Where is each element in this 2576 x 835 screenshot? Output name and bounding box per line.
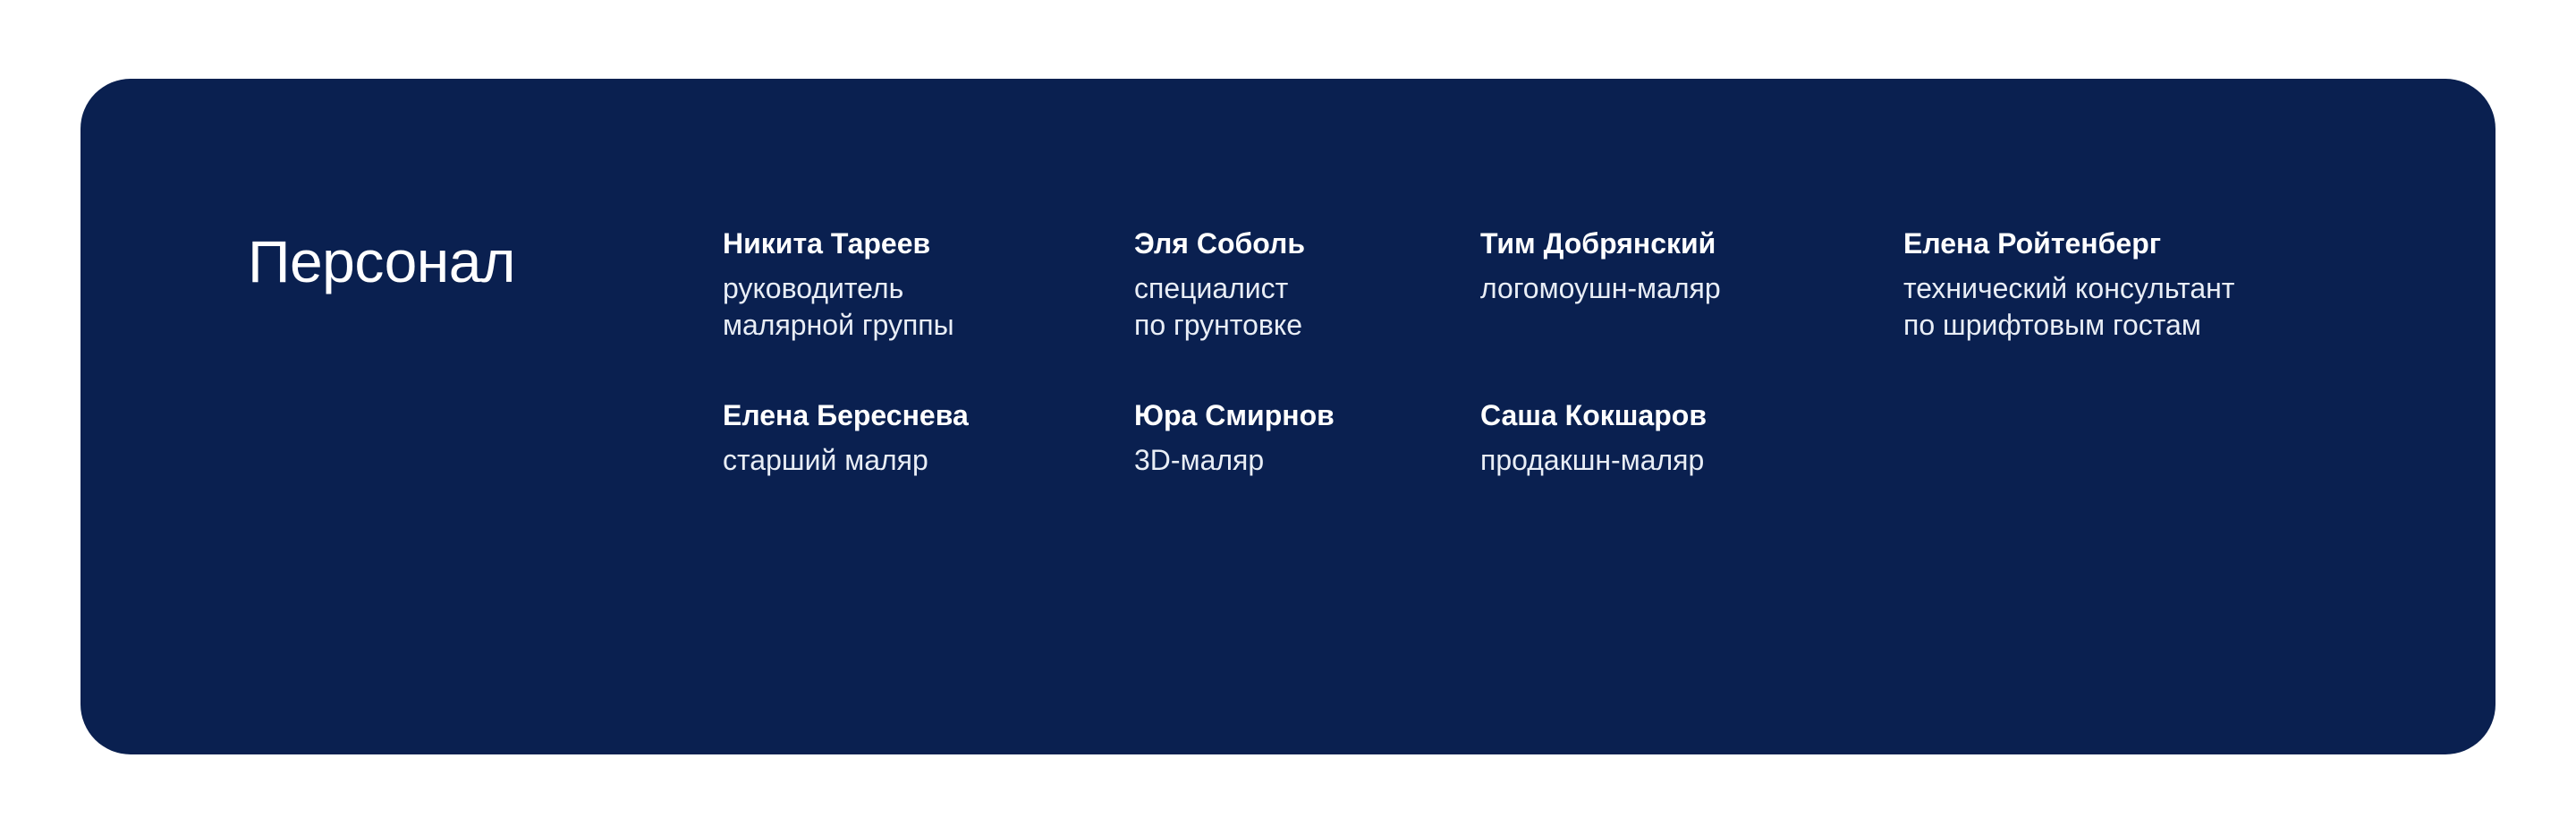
staff-member-role-line: малярной группы	[723, 307, 1134, 344]
staff-member-role-line: специалист	[1134, 270, 1480, 307]
staff-member-name: Никита Тареев	[723, 226, 1134, 261]
staff-member-role-line: технический консультант	[1903, 270, 2368, 307]
page-title: Персонал	[248, 229, 515, 294]
staff-member-name: Тим Добрянский	[1480, 226, 1903, 261]
staff-member: Эля Соболь специалист по грунтовке	[1134, 226, 1480, 344]
staff-member-role: логомоушн-маляр	[1480, 270, 1903, 307]
staff-member: Елена Береснева старший маляр	[723, 397, 1134, 498]
staff-member-role-line: логомоушн-маляр	[1480, 270, 1903, 307]
staff-member-role-line: руководитель	[723, 270, 1134, 307]
staff-member-role: старший маляр	[723, 442, 1134, 479]
staff-member-role-line: продакшн-маляр	[1480, 442, 1903, 479]
staff-member-role: продакшн-маляр	[1480, 442, 1903, 479]
page-root: Персонал Никита Тареев руководитель маля…	[0, 0, 2576, 835]
staff-member-role-line: по грунтовке	[1134, 307, 1480, 344]
staff-member-role-line: 3D-маляр	[1134, 442, 1480, 479]
staff-member-name: Юра Смирнов	[1134, 397, 1480, 433]
staff-card: Персонал Никита Тареев руководитель маля…	[80, 79, 2495, 754]
staff-member-role-line: по шрифтовым гостам	[1903, 307, 2368, 344]
staff-grid-empty-cell	[1903, 397, 2368, 498]
staff-member: Юра Смирнов 3D-маляр	[1134, 397, 1480, 498]
staff-member: Тим Добрянский логомоушн-маляр	[1480, 226, 1903, 344]
staff-member-name: Эля Соболь	[1134, 226, 1480, 261]
staff-member: Саша Кокшаров продакшн-маляр	[1480, 397, 1903, 498]
staff-member: Никита Тареев руководитель малярной груп…	[723, 226, 1134, 344]
staff-member-name: Елена Ройтенберг	[1903, 226, 2368, 261]
staff-member-role: технический консультант по шрифтовым гос…	[1903, 270, 2368, 344]
staff-member-name: Саша Кокшаров	[1480, 397, 1903, 433]
staff-member-name: Елена Береснева	[723, 397, 1134, 433]
staff-member: Елена Ройтенберг технический консультант…	[1903, 226, 2368, 344]
staff-member-role-line: старший маляр	[723, 442, 1134, 479]
staff-grid: Никита Тареев руководитель малярной груп…	[723, 226, 2422, 498]
staff-member-role: руководитель малярной группы	[723, 270, 1134, 344]
staff-member-role: специалист по грунтовке	[1134, 270, 1480, 344]
staff-member-role: 3D-маляр	[1134, 442, 1480, 479]
